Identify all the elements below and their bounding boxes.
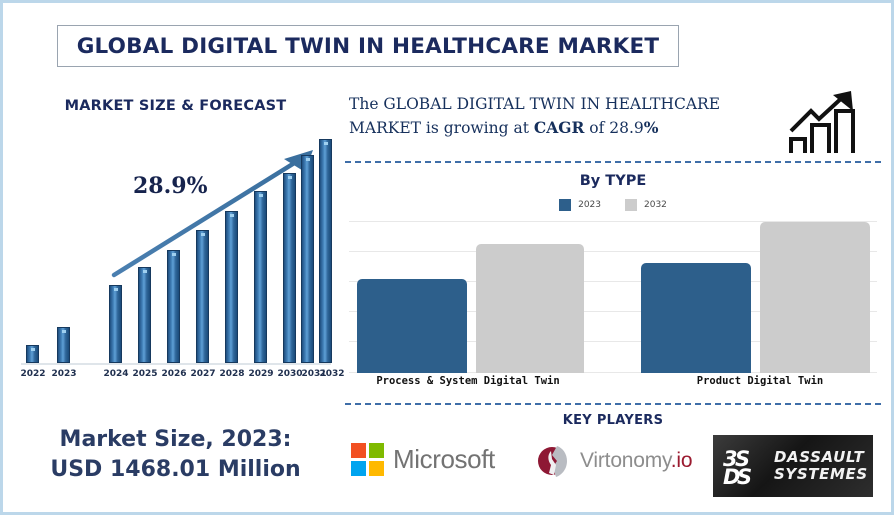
legend-label-2023: 2023	[578, 200, 601, 210]
forecast-year-axis: 2022 2023 2024 2025 2026 2027 2028 2029 …	[13, 369, 338, 385]
legend-swatch-2023	[559, 199, 571, 211]
forecast-section-title: MARKET SIZE & FORECAST	[13, 98, 338, 114]
forecast-bar-2032	[319, 139, 332, 363]
year-label-2024: 2024	[103, 369, 129, 379]
bytype-legend: 2023 2032	[345, 199, 881, 211]
bytype-section-title: By TYPE	[345, 173, 881, 189]
legend-swatch-2032	[625, 199, 637, 211]
intro-statement: The GLOBAL DIGITAL TWIN IN HEALTHCARE MA…	[349, 93, 769, 140]
microsoft-square-yellow	[369, 461, 384, 476]
forecast-bar-2023	[57, 327, 70, 363]
dassault-line-1: DASSAULT	[774, 449, 868, 466]
dassault-3ds-mark-icon: 3 S D S	[721, 443, 767, 489]
forecast-bar-2022	[26, 345, 39, 363]
bytype-bar-product-2032	[760, 222, 870, 373]
forecast-bar-2027	[196, 230, 209, 363]
forecast-bar-2029	[254, 191, 267, 363]
bytype-category-label-product: Product Digital Twin	[645, 375, 875, 387]
bytype-chart-plot	[349, 221, 877, 373]
year-label-2022: 2022	[20, 369, 46, 379]
microsoft-square-red	[351, 443, 366, 458]
year-label-2026: 2026	[161, 369, 187, 379]
forecast-bars-area	[13, 140, 338, 365]
market-size-forecast-panel: MARKET SIZE & FORECAST 28.9%	[13, 83, 338, 503]
market-size-line-2: USD 1468.01 Million	[13, 455, 338, 485]
forecast-baseline	[21, 363, 331, 365]
bytype-bar-process-2023	[357, 279, 467, 373]
virtonomy-logo[interactable]: Virtonomy.io	[537, 443, 692, 479]
forecast-bar-2031	[301, 155, 314, 363]
intro-middle: of 28.9	[584, 119, 643, 137]
microsoft-square-green	[369, 443, 384, 458]
page-title-box: GLOBAL DIGITAL TWIN IN HEALTHCARE MARKET	[57, 25, 679, 67]
dassault-wordmark: DASSAULT SYSTEMES	[774, 449, 868, 483]
key-players-logos: Microsoft Virtonomy.io 3 S D S DAS	[345, 435, 881, 497]
year-label-2027: 2027	[190, 369, 216, 379]
divider-top	[345, 161, 881, 163]
year-label-2032: 2032	[319, 369, 345, 379]
legend-label-2032: 2032	[644, 200, 667, 210]
bar-chart-growth-icon	[785, 87, 863, 159]
infographic-root: GLOBAL DIGITAL TWIN IN HEALTHCARE MARKET…	[0, 0, 894, 515]
intro-bold-cagr: CAGR	[534, 118, 584, 137]
virtonomy-wordmark: Virtonomy.io	[580, 449, 692, 473]
bytype-category-label-process: Process & System Digital Twin	[353, 375, 583, 387]
forecast-bar-2030b	[283, 173, 296, 363]
year-label-2025: 2025	[132, 369, 158, 379]
year-label-2023: 2023	[51, 369, 77, 379]
forecast-bar-2028	[225, 211, 238, 363]
bytype-bar-process-2032	[476, 244, 584, 373]
microsoft-logo[interactable]: Microsoft	[351, 443, 495, 476]
forecast-bar-2025	[138, 267, 151, 363]
microsoft-square-blue	[351, 461, 366, 476]
market-size-line-1: Market Size, 2023:	[13, 425, 338, 455]
divider-bottom	[345, 403, 881, 405]
key-players-title: KEY PLAYERS	[345, 413, 881, 428]
svg-text:S: S	[737, 465, 752, 489]
legend-item-2023: 2023	[559, 199, 601, 211]
legend-item-2032: 2032	[625, 199, 667, 211]
forecast-bar-2024	[109, 285, 122, 363]
page-title: GLOBAL DIGITAL TWIN IN HEALTHCARE MARKET	[77, 34, 660, 59]
virtonomy-suffix: .io	[671, 449, 693, 472]
microsoft-wordmark: Microsoft	[393, 444, 495, 475]
microsoft-squares-icon	[351, 443, 384, 476]
virtonomy-word: Virtonomy	[580, 449, 671, 472]
intro-bold-percent: %	[644, 118, 659, 137]
right-panel: The GLOBAL DIGITAL TWIN IN HEALTHCARE MA…	[345, 83, 885, 508]
market-size-value: Market Size, 2023: USD 1468.01 Million	[13, 425, 338, 485]
year-label-2028: 2028	[219, 369, 245, 379]
year-label-2030: 2030	[277, 369, 303, 379]
dassault-line-2: SYSTEMES	[774, 466, 868, 483]
bytype-bar-product-2023	[641, 263, 751, 373]
virtonomy-mark-icon	[537, 443, 573, 479]
forecast-bar-2026	[167, 250, 180, 363]
year-label-2029: 2029	[248, 369, 274, 379]
dassault-systemes-logo[interactable]: 3 S D S DASSAULT SYSTEMES	[713, 435, 873, 497]
